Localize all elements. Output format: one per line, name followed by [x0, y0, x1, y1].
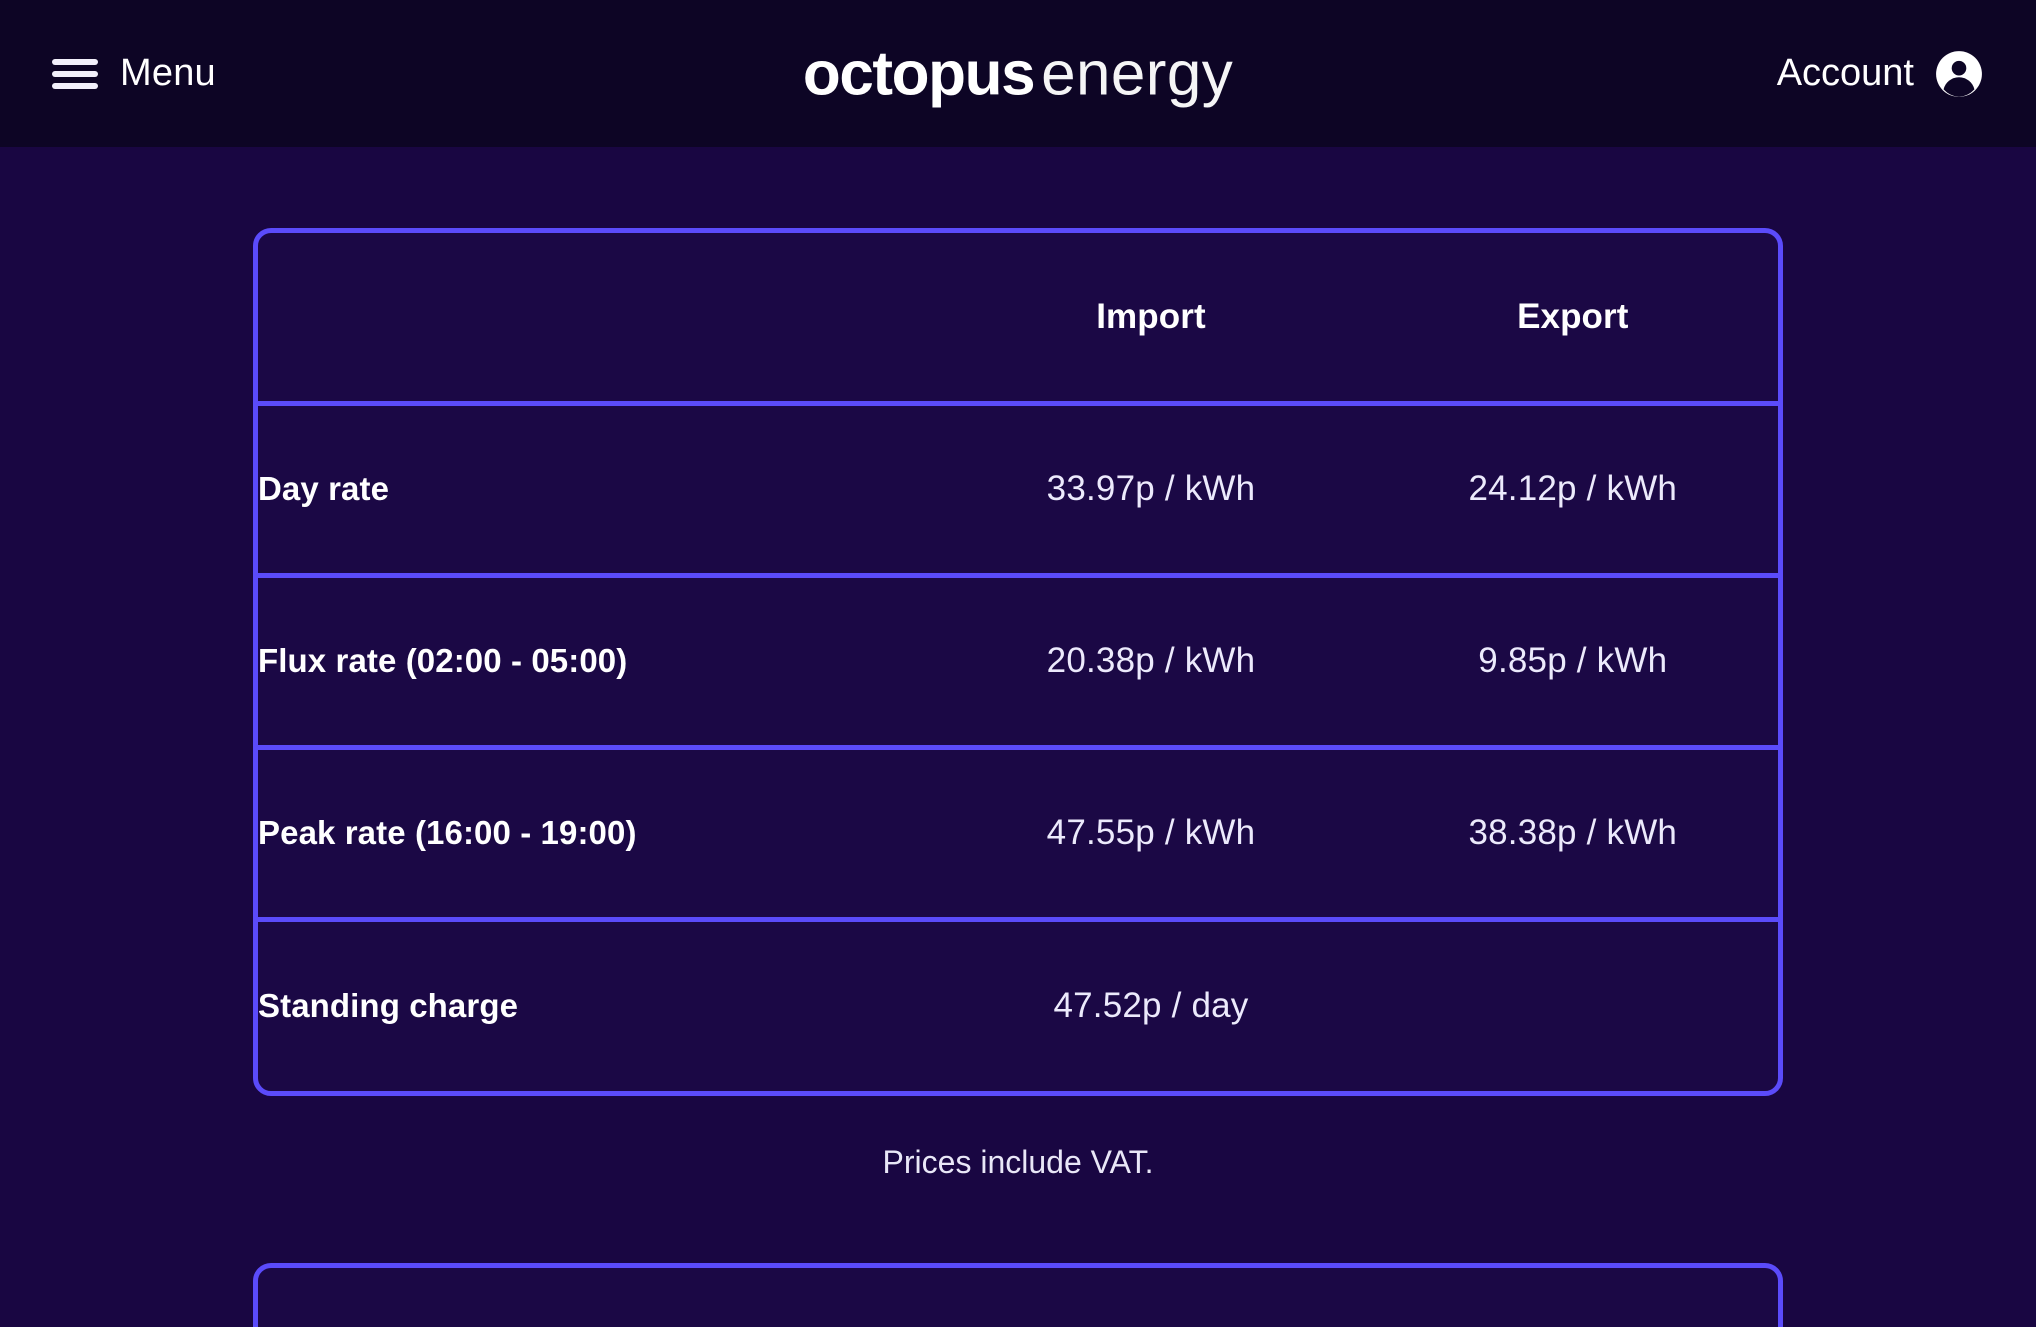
row-export-day-rate: 24.12p / kWh: [1368, 403, 1778, 575]
row-label-standing-charge: Standing charge: [258, 919, 934, 1091]
table-row: Peak rate (16:00 - 19:00) 47.55p / kWh 3…: [258, 747, 1778, 919]
row-label-flux-rate: Flux rate (02:00 - 05:00): [258, 575, 934, 747]
vat-note: Prices include VAT.: [253, 1144, 1783, 1181]
account-avatar-icon: [1934, 49, 1984, 99]
main-content: Import Export Day rate 33.97p / kWh 24.1…: [0, 228, 2036, 1327]
tariff-rates-card: Import Export Day rate 33.97p / kWh 24.1…: [253, 228, 1783, 1096]
row-label-day-rate: Day rate: [258, 403, 934, 575]
octopus-energy-logo[interactable]: octopus energy: [803, 38, 1233, 109]
table-header-row: Import Export: [258, 233, 1778, 403]
table-header: Import Export: [258, 233, 1778, 403]
column-header-export: Export: [1368, 233, 1778, 403]
row-export-peak-rate: 38.38p / kWh: [1368, 747, 1778, 919]
account-button-label: Account: [1777, 52, 1914, 95]
table-body: Day rate 33.97p / kWh 24.12p / kWh Flux …: [258, 403, 1778, 1091]
menu-button-label: Menu: [120, 52, 216, 95]
column-header-import: Import: [934, 233, 1367, 403]
site-header: Menu octopus energy Account: [0, 0, 2036, 147]
row-import-peak-rate: 47.55p / kWh: [934, 747, 1367, 919]
logo-word-energy: energy: [1041, 38, 1233, 109]
table-row: Flux rate (02:00 - 05:00) 20.38p / kWh 9…: [258, 575, 1778, 747]
row-export-flux-rate: 9.85p / kWh: [1368, 575, 1778, 747]
row-label-peak-rate: Peak rate (16:00 - 19:00): [258, 747, 934, 919]
table-row: Day rate 33.97p / kWh 24.12p / kWh: [258, 403, 1778, 575]
account-button[interactable]: Account: [1777, 49, 1984, 99]
next-card-partial: [253, 1263, 1783, 1327]
menu-button[interactable]: Menu: [52, 52, 216, 95]
hamburger-icon: [52, 58, 98, 90]
row-export-standing-charge: [1368, 919, 1778, 1091]
column-header-label: [258, 233, 934, 403]
tariff-rates-table: Import Export Day rate 33.97p / kWh 24.1…: [258, 233, 1778, 1091]
row-import-day-rate: 33.97p / kWh: [934, 403, 1367, 575]
table-row: Standing charge 47.52p / day: [258, 919, 1778, 1091]
row-import-flux-rate: 20.38p / kWh: [934, 575, 1367, 747]
row-import-standing-charge: 47.52p / day: [934, 919, 1367, 1091]
logo-word-octopus: octopus: [803, 38, 1034, 109]
